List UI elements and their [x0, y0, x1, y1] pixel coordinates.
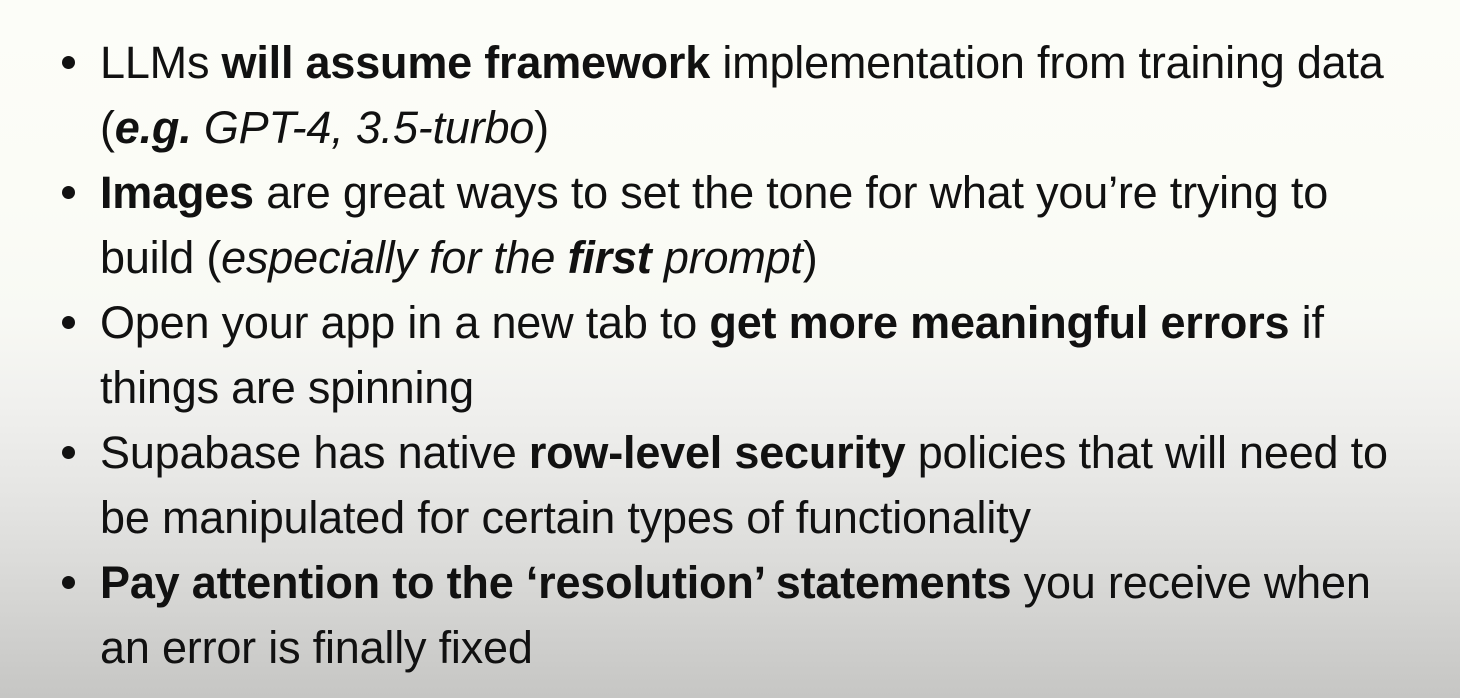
text-run: LLMs — [100, 37, 222, 88]
text-run: Images — [100, 167, 254, 218]
bullet-marker-icon — [62, 56, 75, 69]
text-run: prompt — [652, 232, 803, 283]
bullet-marker-icon — [62, 576, 75, 589]
bullet-marker-icon — [62, 446, 75, 459]
text-run: ) — [803, 232, 818, 283]
bullet-item: LLMs will assume framework implementatio… — [0, 30, 1420, 160]
bullet-text: Open your app in a new tab to get more m… — [100, 297, 1324, 413]
text-run: Supabase has native — [100, 427, 529, 478]
text-run: e.g. — [115, 102, 192, 153]
bullet-item: Supabase has native row-level security p… — [0, 420, 1420, 550]
bullet-item: Pay attention to the ‘resolution’ statem… — [0, 550, 1420, 680]
bullet-text: Pay attention to the ‘resolution’ statem… — [100, 557, 1371, 673]
bullet-marker-icon — [62, 186, 75, 199]
bullet-text: Images are great ways to set the tone fo… — [100, 167, 1328, 283]
text-run: get more meaningful errors — [709, 297, 1289, 348]
bullet-list: LLMs will assume framework implementatio… — [0, 30, 1460, 680]
bullet-text: LLMs will assume framework implementatio… — [100, 37, 1384, 153]
text-run: ) — [534, 102, 549, 153]
text-run: GPT-4, 3.5-turbo — [192, 102, 535, 153]
slide-canvas: LLMs will assume framework implementatio… — [0, 0, 1460, 698]
text-run: first — [568, 232, 652, 283]
bullet-item: Open your app in a new tab to get more m… — [0, 290, 1420, 420]
bullet-text: Supabase has native row-level security p… — [100, 427, 1388, 543]
bullet-item: Images are great ways to set the tone fo… — [0, 160, 1420, 290]
text-run: Open your app in a new tab to — [100, 297, 709, 348]
text-run: row-level security — [529, 427, 906, 478]
text-run-emphasis: first — [568, 232, 652, 283]
text-run: will assume framework — [222, 37, 711, 88]
text-run: especially for the — [221, 232, 567, 283]
bullet-marker-icon — [62, 316, 75, 329]
text-run-emphasis: e.g. — [115, 102, 192, 153]
text-run: Pay attention to the ‘resolution’ statem… — [100, 557, 1011, 608]
